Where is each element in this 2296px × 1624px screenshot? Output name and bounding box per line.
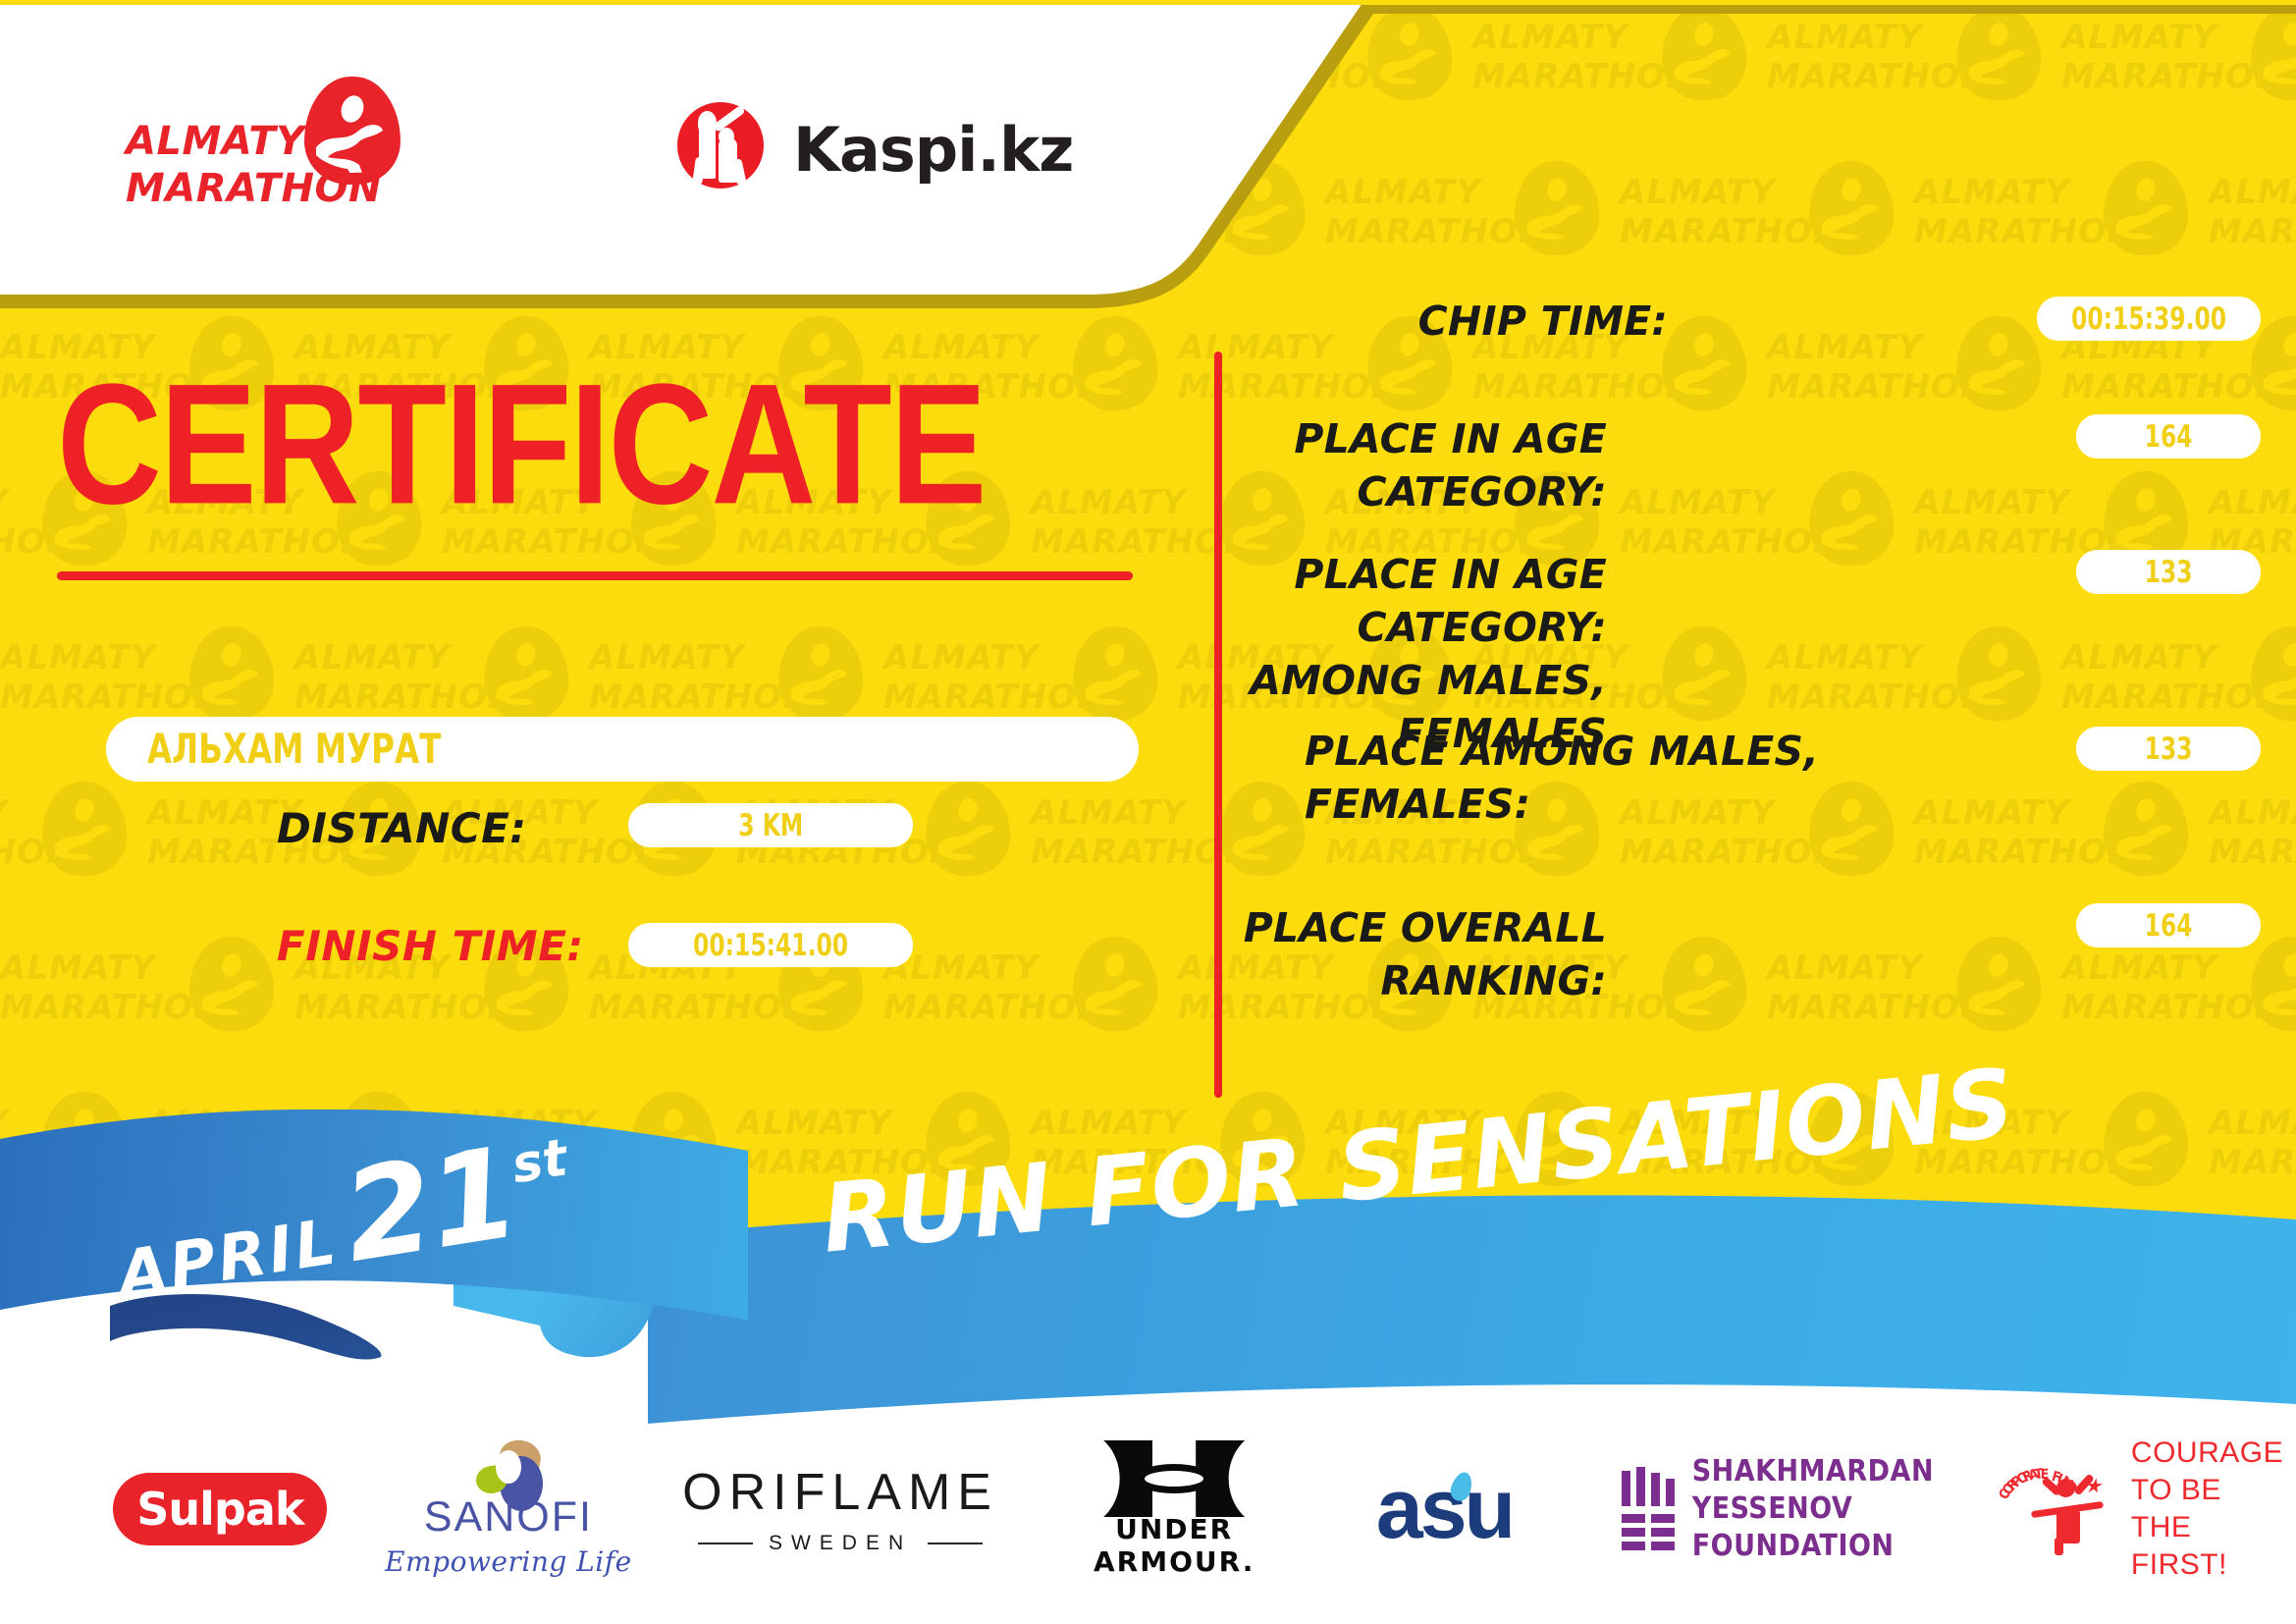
ribbon-day: 21 [337, 1135, 523, 1276]
chip-time-value-field[interactable]: 00:15:39.00 [2037, 297, 2261, 341]
sponsor-oriflame: ORIFLAME SWEDEN [682, 1440, 998, 1578]
participant-name-field[interactable]: АЛЬХАМ МУРАТ [106, 717, 1139, 782]
ribbon-month: APRIL [114, 1211, 343, 1313]
finish-time-label: FINISH TIME: [277, 923, 584, 970]
participant-name-value: АЛЬХАМ МУРАТ [147, 725, 441, 774]
chip-time-value: 00:15:39.00 [2071, 302, 2226, 336]
under-armour-logo-text: UNDER ARMOUR. [1040, 1513, 1308, 1578]
place-overall-ranking-value: 164 [2145, 909, 2193, 943]
column-divider [1214, 352, 1222, 1098]
place-age-category-among-value-field[interactable]: 133 [2076, 550, 2261, 594]
place-among-males-females-value-field[interactable]: 133 [2076, 727, 2261, 771]
title-underline [57, 571, 1133, 580]
certificate-results-column: CHIP TIME: 00:15:39.00 PLACE IN AGE CATE… [1222, 295, 2296, 1139]
sponsor-bar: Sulpak SANOFI Empowering Life ORIFLAME S… [0, 1394, 2296, 1624]
oriflame-sub-row: SWEDEN [698, 1532, 983, 1555]
distance-label: DISTANCE: [277, 805, 527, 852]
finish-time-value: 00:15:41.00 [693, 929, 848, 962]
oriflame-rule-left [698, 1543, 753, 1544]
yessenov-foundation-text: SHAKHMARDAN YESSENOV FOUNDATION [1692, 1453, 1970, 1565]
kaspi-family-circle-icon [677, 102, 764, 189]
sanofi-tagline: Empowering Life [385, 1545, 632, 1578]
sanofi-bird-icon [470, 1440, 547, 1489]
sponsor-sulpak: Sulpak [77, 1440, 364, 1578]
place-among-males-females-label: PLACE AMONG MALES, FEMALES: [1305, 725, 1819, 831]
oriflame-rule-right [928, 1543, 983, 1544]
chip-time-label: CHIP TIME: [1418, 295, 1668, 348]
place-overall-ranking-label: PLACE OVERALL RANKING: [1222, 901, 1607, 1007]
certificate-canvas: ALMATYMARATHONALMATYMARATHONALMATYMARATH… [0, 0, 2296, 1624]
corporate-fund-slogan: COURAGE TO BE THE FIRST! [2131, 1435, 2296, 1584]
place-age-category-value-field[interactable]: 164 [2076, 414, 2261, 459]
kaspi-logo: Kaspi.kz [677, 98, 1090, 216]
finish-time-value-field[interactable]: 00:15:41.00 [628, 923, 913, 967]
marathon-line: MARATHON [126, 166, 382, 211]
sulpak-logo: Sulpak [113, 1473, 327, 1545]
yessenov-bars-icon [1620, 1467, 1670, 1551]
asu-logo: asu [1376, 1466, 1563, 1552]
sponsor-corporate-fund: CORPORATE FUND ★ COURAGE TO BE THE FIRST… [2000, 1440, 2296, 1578]
corporate-fund-figure-icon: ★ [2041, 1477, 2106, 1551]
certificate-left-column: CERTIFICATE АЛЬХАМ МУРАТ DISTANCE: 3 KM … [0, 295, 1178, 1129]
corporate-fund-icon: CORPORATE FUND ★ [2000, 1455, 2123, 1563]
sponsor-sanofi: SANOFI Empowering Life [374, 1440, 643, 1578]
oriflame-logo-text: ORIFLAME [682, 1463, 998, 1522]
page-title: CERTIFICATE [57, 359, 985, 531]
ribbon-date-block: APRIL 21 st [0, 1110, 785, 1355]
almaty-marathon-logo-text: ALMATYMARATHON [126, 118, 382, 212]
header: ALMATYMARATHON Kaspi.kz [0, 0, 1374, 295]
sponsor-yessenov-foundation: SHAKHMARDAN YESSENOV FOUNDATION [1620, 1440, 1970, 1578]
sulpak-logo-text: Sulpak [136, 1483, 303, 1536]
place-age-category-value: 164 [2145, 420, 2193, 454]
sponsor-under-armour: UNDER ARMOUR. [1040, 1440, 1308, 1578]
oriflame-sub-text: SWEDEN [753, 1532, 928, 1555]
sponsor-asu: asu [1348, 1440, 1590, 1578]
distance-value: 3 KM [738, 809, 803, 842]
place-age-category-label: PLACE IN AGE CATEGORY: [1222, 412, 1607, 518]
place-overall-ranking-value-field[interactable]: 164 [2076, 903, 2261, 947]
almaty-line: ALMATY [126, 119, 305, 164]
distance-value-field[interactable]: 3 KM [628, 803, 913, 847]
asu-logo-text: asu [1376, 1466, 1513, 1552]
kaspi-logo-text: Kaspi.kz [793, 114, 1073, 186]
under-armour-icon [1103, 1440, 1245, 1505]
place-among-males-females-value: 133 [2145, 732, 2193, 766]
almaty-marathon-logo: ALMATYMARATHON [126, 77, 440, 210]
place-age-category-among-value: 133 [2145, 556, 2193, 589]
ribbon-day-ordinal: st [508, 1132, 570, 1191]
